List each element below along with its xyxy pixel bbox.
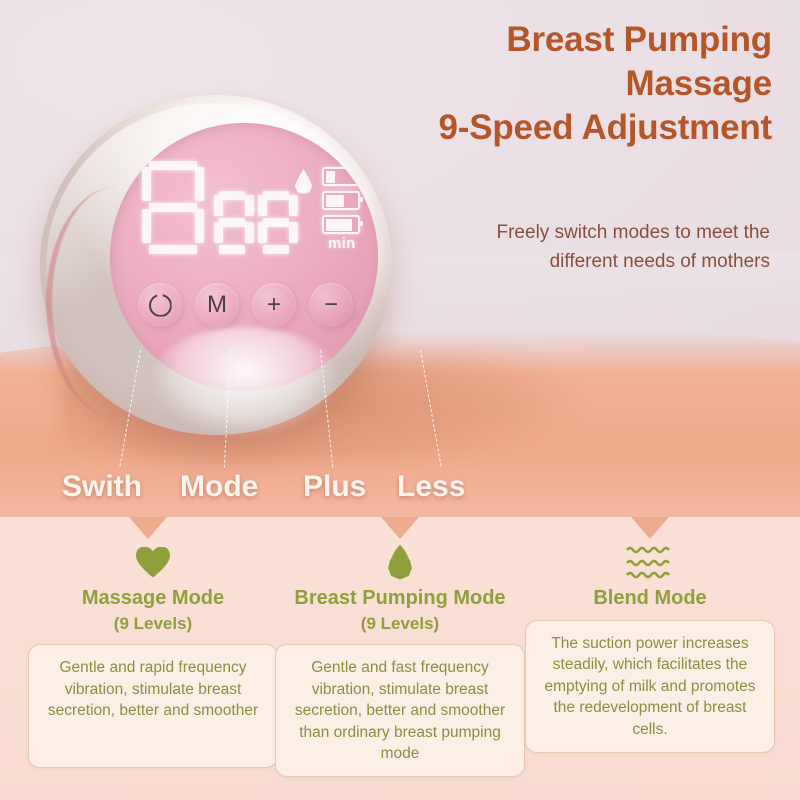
display-digit-small-2: [258, 191, 294, 253]
callout-mode: Mode: [180, 470, 258, 504]
minus-icon: −: [324, 291, 338, 319]
mode-description-pumping: Gentle and fast frequency vibration, sti…: [275, 644, 525, 777]
title-line-3: 9-Speed Adjustment: [352, 106, 772, 150]
waves-icon: [525, 539, 775, 585]
plus-icon: +: [267, 291, 281, 319]
mode-column-blend: Blend Mode The suction power increases s…: [525, 539, 775, 753]
mode-title-pumping: Breast Pumping Mode: [275, 586, 525, 610]
mode-levels-massage: (9 Levels): [28, 614, 278, 634]
battery-level-1-icon: [322, 167, 360, 186]
callout-less: Less: [397, 470, 465, 504]
notch-blend: [631, 517, 669, 539]
modes-panel: Massage Mode (9 Levels) Gentle and rapid…: [0, 517, 800, 800]
header-title: Breast Pumping Massage 9-Speed Adjustmen…: [352, 18, 772, 150]
battery-level-2-icon: [322, 191, 360, 210]
display-digit-small-1: [214, 191, 250, 253]
callout-switch: Swith: [62, 470, 142, 504]
mode-button[interactable]: M: [195, 283, 239, 327]
heart-icon: [28, 539, 278, 585]
power-button[interactable]: [138, 283, 182, 327]
mode-button-label: M: [207, 291, 227, 319]
mode-column-massage: Massage Mode (9 Levels) Gentle and rapid…: [28, 539, 278, 768]
notch-pumping: [381, 517, 419, 539]
title-line-2: Massage: [352, 62, 772, 106]
title-line-1: Breast Pumping: [352, 18, 772, 62]
minus-button[interactable]: −: [309, 283, 353, 327]
header-subtitle: Freely switch modes to meet the differen…: [440, 218, 770, 277]
display-unit-label: min: [328, 235, 356, 252]
mode-levels-pumping: (9 Levels): [275, 614, 525, 634]
mode-title-massage: Massage Mode: [28, 586, 278, 610]
battery-level-3-icon: [322, 215, 360, 234]
callout-label-row: Swith Mode Plus Less: [0, 470, 800, 516]
display-digit-large: [142, 161, 204, 253]
power-icon: [149, 294, 172, 317]
notch-massage: [129, 517, 167, 539]
callout-plus: Plus: [303, 470, 366, 504]
droplet-icon: [275, 539, 525, 585]
product-scene: min M + −: [0, 0, 800, 517]
mode-column-pumping: Breast Pumping Mode (9 Levels) Gentle an…: [275, 539, 525, 777]
mode-description-blend: The suction power increases steadily, wh…: [525, 620, 775, 753]
mode-description-massage: Gentle and rapid frequency vibration, st…: [28, 644, 278, 768]
mode-title-blend: Blend Mode: [525, 586, 775, 610]
plus-button[interactable]: +: [252, 283, 296, 327]
infographic-page: min M + −: [0, 0, 800, 800]
breast-pump-device: min M + −: [40, 95, 400, 440]
device-bottom-glow: [150, 327, 340, 437]
led-display: min: [142, 161, 352, 253]
drop-indicator-icon: [294, 169, 313, 194]
